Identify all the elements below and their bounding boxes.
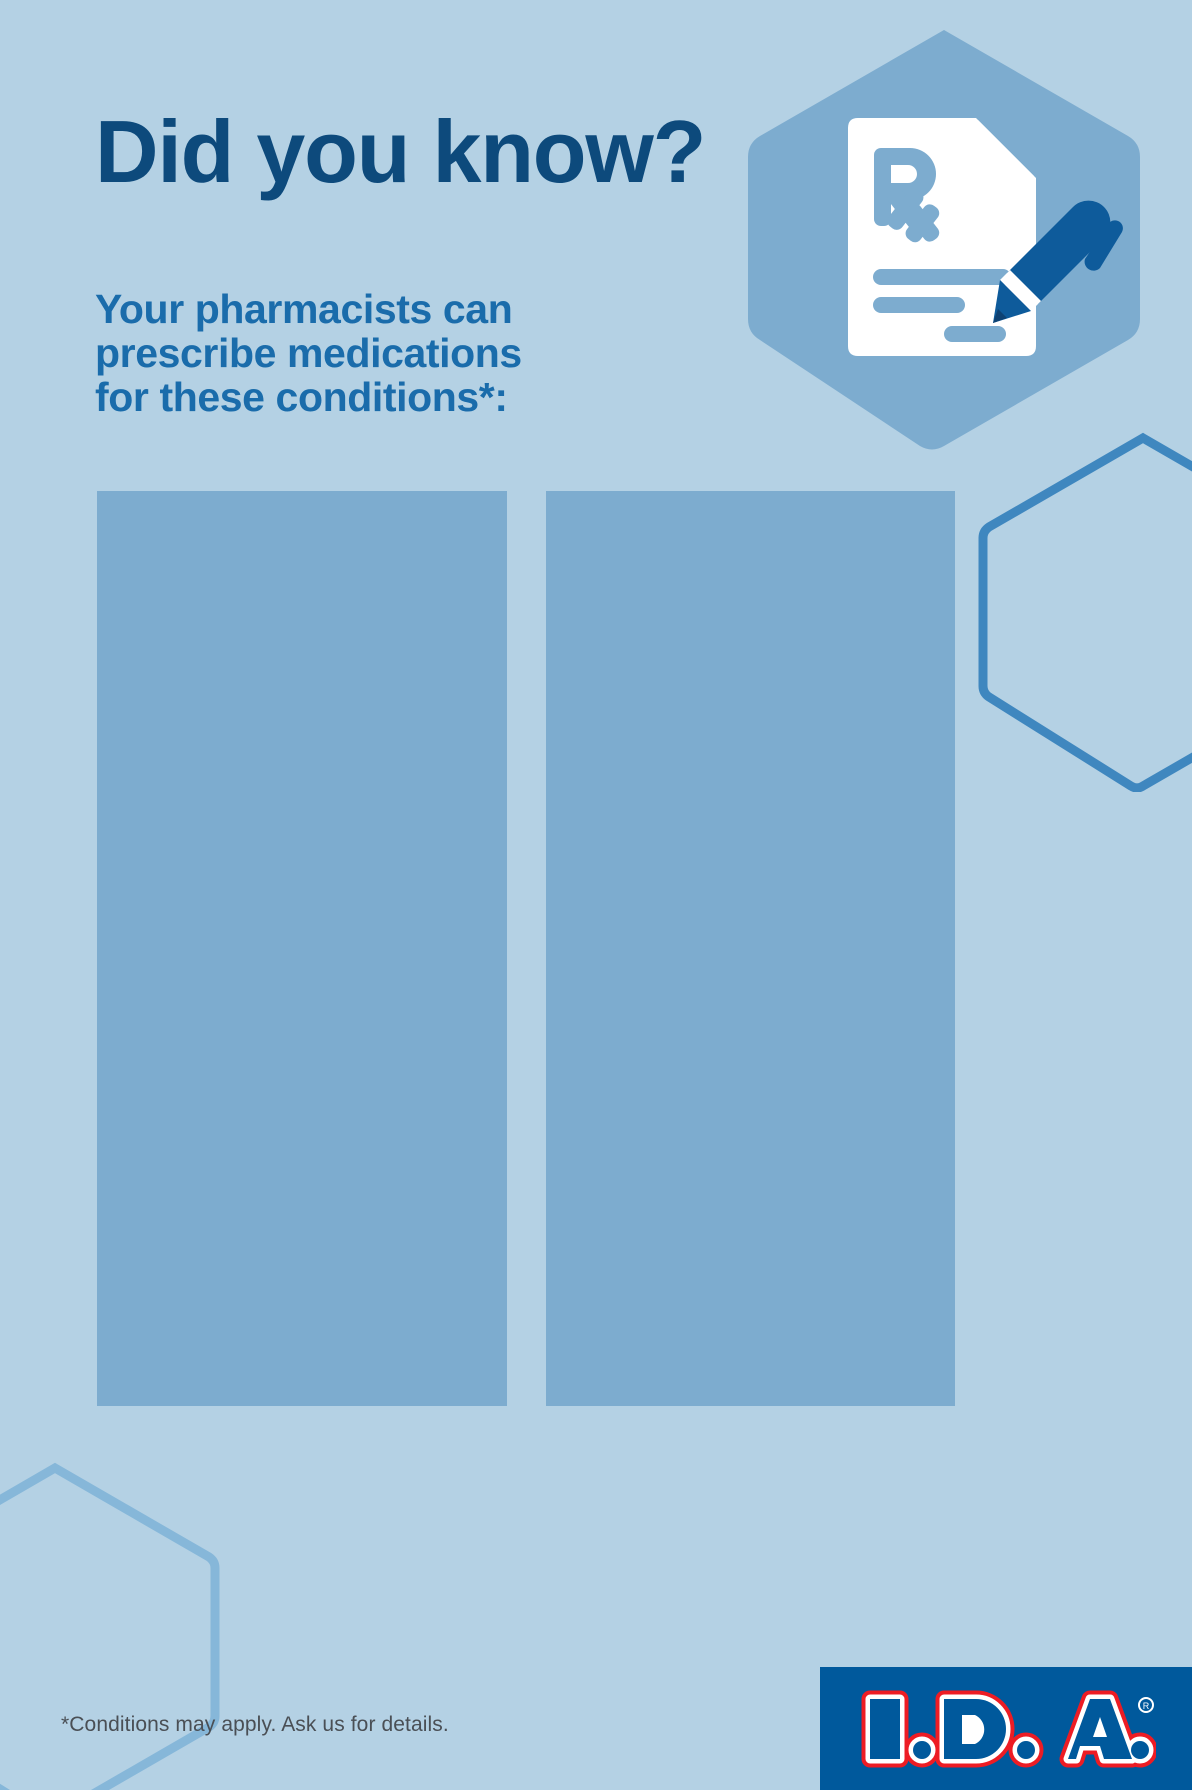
hexagon-outline-bottom-left [0,1462,220,1790]
hexagon-outline-shape [0,1468,215,1790]
ida-logo-letterforms [870,1699,1149,1759]
right-condition-panel [546,491,955,1406]
hexagon-outline-shape [983,438,1192,788]
subheading-line-3: for these conditions*: [95,375,522,419]
page-title: Did you know? [95,108,705,196]
svg-text:R: R [1143,1701,1150,1711]
paper-text-line-2 [873,297,965,313]
paper-text-line-1 [873,269,1011,285]
footnote-disclaimer: *Conditions may apply. Ask us for detail… [61,1713,449,1737]
poster-canvas: Did you know? Your pharmacists can presc… [0,0,1192,1790]
ida-logo: R [820,1667,1192,1790]
hexagon-rx-badge [748,26,1140,450]
paper-signature-line [944,326,1006,342]
subheading-line-1: Your pharmacists can [95,287,522,331]
left-condition-panel [97,491,507,1406]
registered-trademark-icon: R [1139,1698,1153,1712]
subheading-line-2: prescribe medications [95,331,522,375]
hexagon-outline-right [978,432,1192,792]
subheading: Your pharmacists can prescribe medicatio… [95,287,522,419]
